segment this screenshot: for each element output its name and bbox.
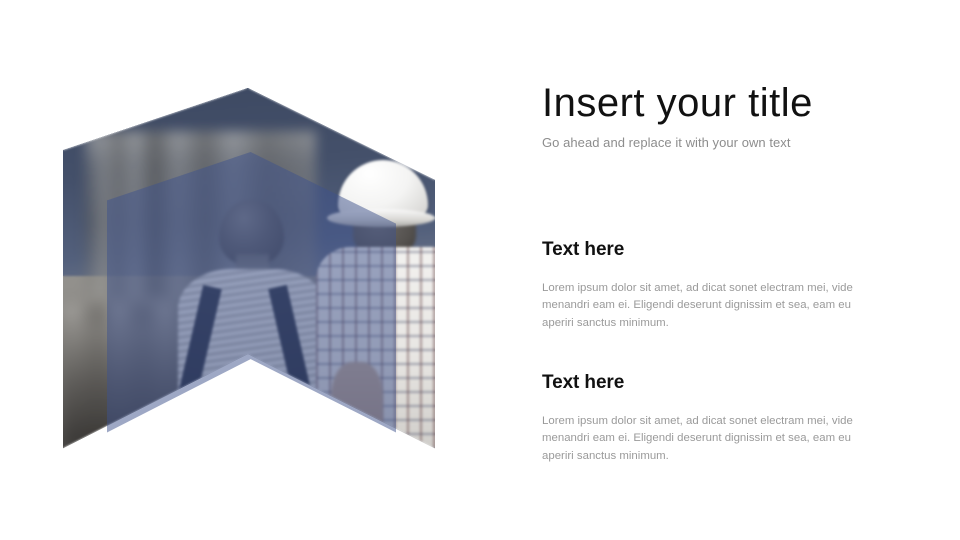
content-section-2: Text here Lorem ipsum dolor sit amet, ad… [542,372,860,465]
page-subtitle: Go ahead and replace it with your own te… [542,135,872,150]
worker-right-arm [331,362,383,449]
text-column: Insert your title Go ahead and replace i… [542,82,872,150]
hard-hat-brim [327,209,435,227]
section-1-body: Lorem ipsum dolor sit amet, ad dicat son… [542,280,860,332]
section-2-body: Lorem ipsum dolor sit amet, ad dicat son… [542,413,860,465]
section-2-heading: Text here [542,372,860,394]
page-title: Insert your title [542,82,872,125]
worker-right-checked-shirt [316,247,435,449]
section-1-heading: Text here [542,239,860,261]
photo-base [63,88,435,449]
content-section-1: Text here Lorem ipsum dolor sit amet, ad… [542,239,860,332]
chevron-photo-visual [63,88,435,449]
slide-canvas: Insert your title Go ahead and replace i… [0,0,960,540]
chevron-mask [63,88,435,449]
